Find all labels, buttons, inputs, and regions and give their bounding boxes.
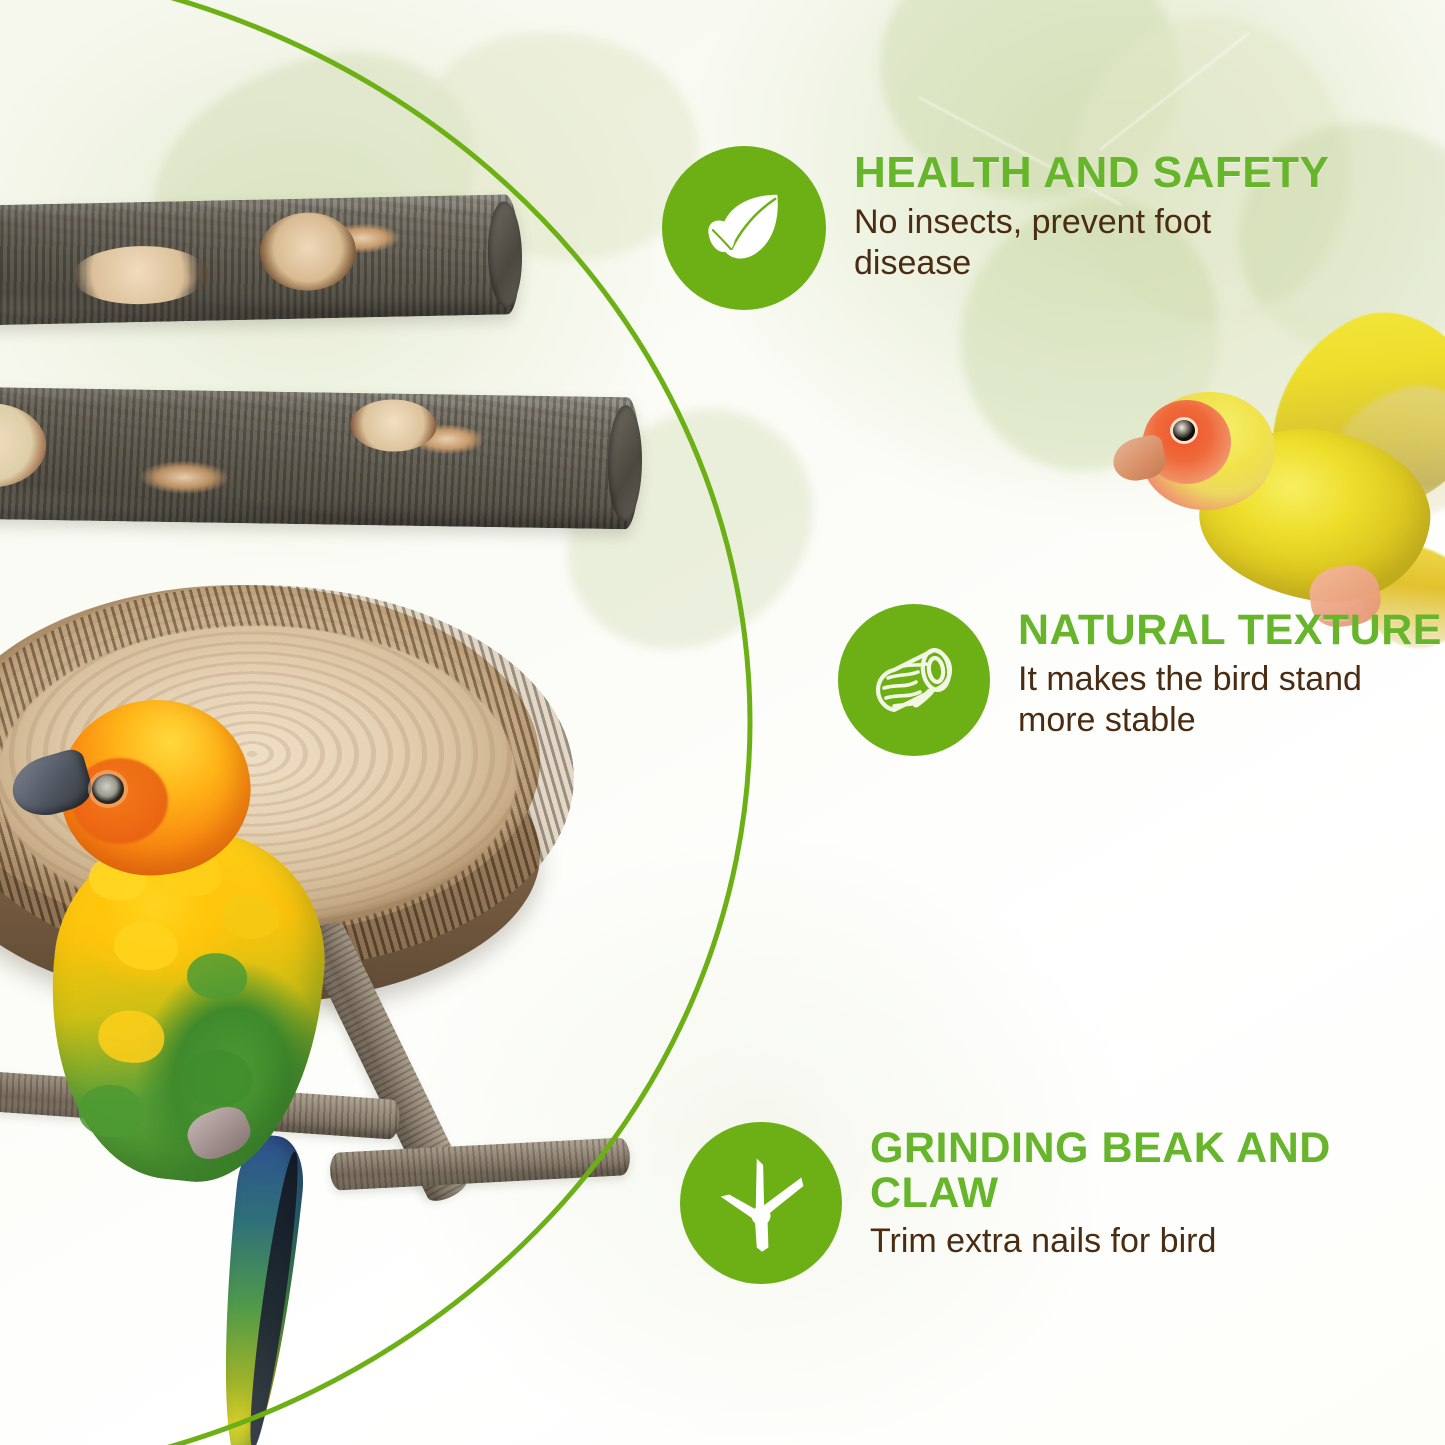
leaf-icon-badge — [662, 146, 826, 310]
feature-text-block: NATURAL TEXTURE It makes the bird stand … — [1018, 604, 1442, 740]
conure-feather — [180, 1046, 255, 1109]
log-icon-badge — [838, 604, 990, 756]
branch-knot — [72, 245, 209, 306]
feature-natural-texture[interactable]: NATURAL TEXTURE It makes the bird stand … — [838, 604, 1442, 756]
conure-feather — [185, 950, 249, 1002]
branch-knot — [350, 399, 437, 452]
branch-cut-end — [607, 405, 643, 522]
feature-heading: GRINDING BEAK AND CLAW — [870, 1126, 1445, 1215]
feature-text-block: GRINDING BEAK AND CLAW Trim extra nails … — [870, 1122, 1445, 1262]
feature-subtext: Trim extra nails for bird — [870, 1221, 1330, 1262]
feature-heading: HEALTH AND SAFETY — [854, 150, 1329, 196]
bird-foot-icon-badge — [680, 1122, 842, 1284]
leaf-icon — [692, 176, 796, 280]
branch-cut-end — [487, 201, 523, 307]
feature-subtext: No insects, prevent foot disease — [854, 202, 1324, 284]
conure-feather — [76, 1082, 147, 1141]
conure-body — [32, 817, 337, 1193]
conure-feather — [112, 918, 181, 972]
feature-grinding-beak-and-claw[interactable]: GRINDING BEAK AND CLAW Trim extra nails … — [680, 1122, 1445, 1284]
log-icon — [864, 630, 964, 730]
branch-knot — [0, 402, 47, 488]
conure-eye — [92, 774, 124, 804]
infographic-canvas: HEALTH AND SAFETY No insects, prevent fo… — [0, 0, 1445, 1445]
conure-feather — [96, 1007, 167, 1066]
feature-subtext: It makes the bird stand more stable — [1018, 659, 1438, 741]
perch-branch-middle — [0, 387, 641, 530]
lovebird-eye — [1173, 420, 1195, 441]
feature-text-block: HEALTH AND SAFETY No insects, prevent fo… — [854, 146, 1329, 283]
conure-feather — [219, 891, 281, 941]
product-photo-collage — [0, 0, 680, 1445]
branch-knot — [259, 212, 357, 292]
feature-health-and-safety[interactable]: HEALTH AND SAFETY No insects, prevent fo… — [662, 146, 1329, 310]
sun-conure — [20, 680, 400, 1440]
feature-heading: NATURAL TEXTURE — [1018, 608, 1442, 653]
perch-branch-top — [0, 194, 521, 326]
bird-foot-icon — [708, 1150, 814, 1256]
